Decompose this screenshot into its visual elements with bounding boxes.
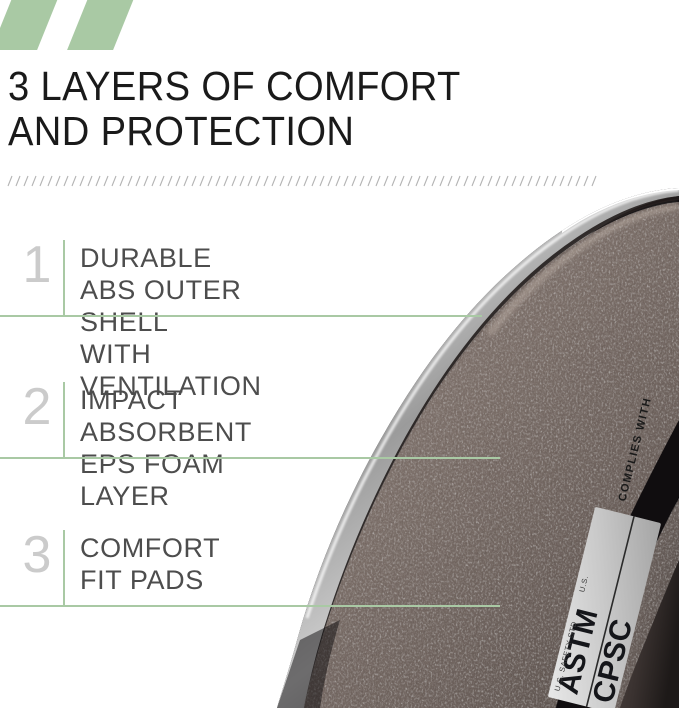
slash-mark-icon	[0, 0, 59, 50]
layer-underline-2	[0, 457, 500, 459]
layer-vertical-rule-2	[63, 382, 65, 458]
hatched-divider	[6, 174, 602, 188]
page-title: 3 LAYERS OF COMFORT AND PROTECTION	[8, 64, 461, 154]
decorative-slashes	[0, 0, 140, 48]
slash-mark-icon	[67, 0, 135, 50]
layer-underline-3	[0, 605, 500, 607]
layer-underline-1	[0, 315, 482, 317]
layer-vertical-rule-1	[63, 240, 65, 316]
layer-label-3: COMFORT FIT PADS	[80, 532, 220, 596]
layer-number-1: 1	[14, 234, 60, 296]
layer-label-2: IMPACT ABSORBENT EPS FOAM LAYER	[80, 384, 252, 512]
layers-infographic: ASTM CPSC U.S. SAFETY STD U.S. COMPLIES …	[0, 0, 679, 708]
layer-number-2: 2	[14, 376, 60, 438]
layer-vertical-rule-3	[63, 530, 65, 606]
layer-label-1: DURABLE ABS OUTER SHELL WITH VENTILATION	[80, 242, 262, 402]
layer-number-3: 3	[14, 524, 60, 586]
